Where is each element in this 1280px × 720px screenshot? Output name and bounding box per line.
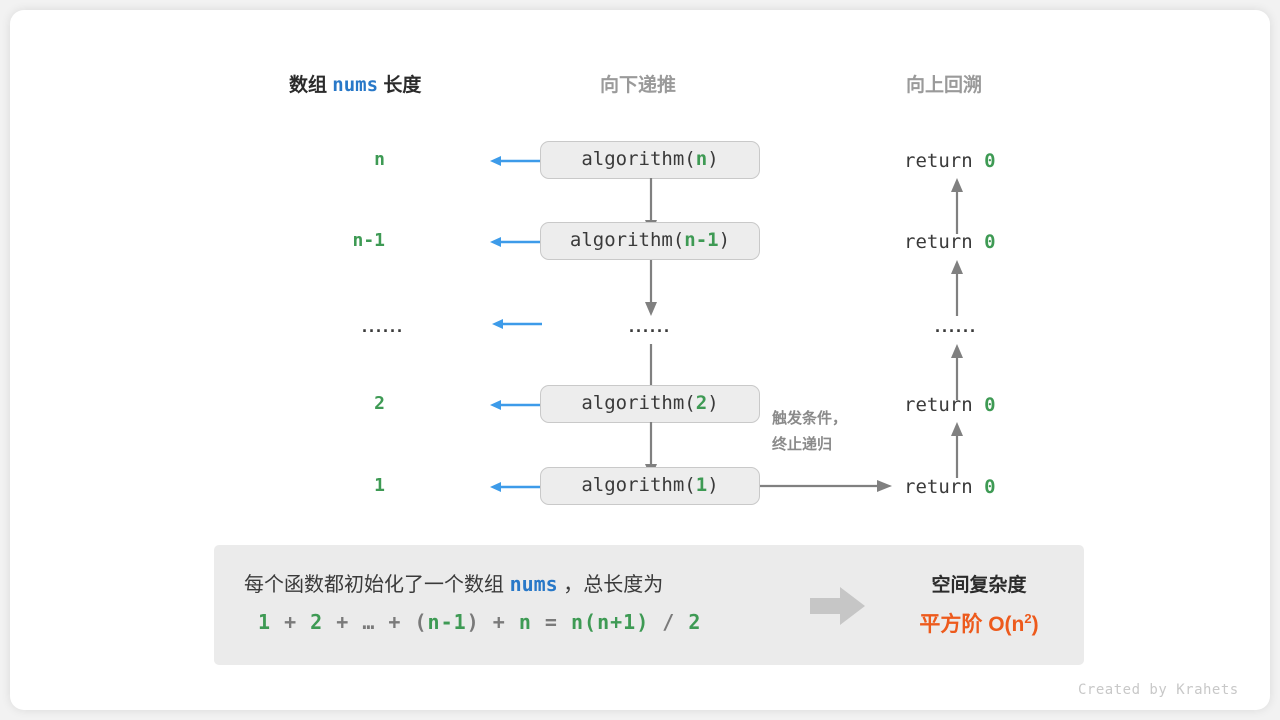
length-label-row-5: 1: [265, 475, 385, 496]
summary-suffix: ，总长度为: [558, 574, 664, 596]
right-arrow-icon: [810, 587, 865, 625]
blue-arrow-row-ellipsis: [492, 313, 542, 335]
up-arrow-row4-to-dots: [946, 344, 968, 400]
summary-prefix: 每个函数都初始化了一个数组: [244, 574, 510, 596]
formula-token: +: [271, 610, 310, 634]
up-arrow-2-to-1: [946, 178, 968, 234]
formula-token: /: [649, 610, 688, 634]
length-label-row-ellipsis: ······: [362, 321, 404, 342]
complexity-suffix: ): [1032, 613, 1039, 636]
return-value: 0: [984, 476, 995, 498]
column-header-recurse-down: 向下递推: [600, 70, 676, 97]
termination-note: 触发条件， 终止递归: [772, 406, 892, 458]
formula-token: ) +: [467, 610, 519, 634]
complexity-prefix: 平方阶 O(n: [919, 613, 1024, 636]
return-label-row-2: return 0: [904, 231, 996, 253]
summary-panel: 每个函数都初始化了一个数组 nums ，总长度为 1 + 2 + … + (n-…: [214, 545, 1084, 665]
fn-suffix: ): [707, 392, 718, 414]
return-value: 0: [984, 231, 995, 253]
formula-token: 2: [688, 610, 701, 634]
return-label-row-4: return 0: [904, 394, 996, 416]
function-box-row-5[interactable]: algorithm(1): [540, 467, 760, 505]
return-text: return: [904, 476, 984, 498]
column-header-backtrack-up: 向上回溯: [906, 70, 982, 97]
blue-arrow-row-4: [490, 394, 546, 416]
formula-token: 2: [310, 610, 323, 634]
blue-arrow-row-1: [490, 150, 546, 172]
summary-nums-keyword: nums: [510, 572, 558, 596]
function-box-row-2[interactable]: algorithm(n-1): [540, 222, 760, 260]
space-complexity-title: 空间复杂度: [874, 570, 1084, 597]
header-nums-keyword: nums: [332, 74, 378, 96]
return-label-row-1: return 0: [904, 150, 996, 172]
return-label-row-ellipsis: ······: [935, 321, 977, 342]
function-box-row-ellipsis: ······: [629, 321, 671, 342]
formula-token: + … + (: [323, 610, 427, 634]
fn-suffix: ): [707, 474, 718, 496]
return-value: 0: [984, 394, 995, 416]
header-left-suffix: 长度: [378, 75, 421, 96]
return-text: return: [904, 394, 984, 416]
formula-token: n-1: [428, 610, 467, 634]
blue-arrow-row-5: [490, 476, 546, 498]
fn-prefix: algorithm(: [570, 229, 684, 251]
down-arrow-2-to-dots: [640, 260, 662, 316]
return-label-row-5: return 0: [904, 476, 996, 498]
fn-arg: 2: [696, 392, 707, 414]
return-value: 0: [984, 150, 995, 172]
length-label-row-2: n-1: [265, 230, 385, 251]
fn-arg: 1: [696, 474, 707, 496]
return-text: return: [904, 231, 984, 253]
length-label-row-4: 2: [265, 393, 385, 414]
fn-prefix: algorithm(: [581, 392, 695, 414]
fn-arg: n-1: [684, 229, 718, 251]
function-box-row-4[interactable]: algorithm(2): [540, 385, 760, 423]
diagram-canvas: 数组 nums 长度 向下递推 向上回溯 n algorithm(n) retu…: [10, 10, 1270, 710]
fn-prefix: algorithm(: [581, 148, 695, 170]
summary-formula: 1 + 2 + … + (n-1) + n = n(n+1) / 2: [258, 610, 701, 634]
formula-token: =: [532, 610, 571, 634]
up-arrow-row5-to-row4: [946, 422, 968, 478]
blue-arrow-row-2: [490, 231, 546, 253]
length-label-row-1: n: [265, 149, 385, 170]
formula-token: n: [519, 610, 532, 634]
formula-token: n(n+1): [571, 610, 649, 634]
return-text: return: [904, 150, 984, 172]
complexity-exponent: 2: [1024, 611, 1031, 626]
fn-suffix: ): [707, 148, 718, 170]
formula-token: 1: [258, 610, 271, 634]
summary-description: 每个函数都初始化了一个数组 nums ，总长度为: [244, 568, 663, 597]
fn-suffix: ): [719, 229, 730, 251]
return-arrow-row-5: [760, 475, 892, 497]
fn-prefix: algorithm(: [581, 474, 695, 496]
header-left-prefix: 数组: [289, 75, 332, 96]
termination-note-line1: 触发条件，: [772, 406, 892, 432]
function-box-row-1[interactable]: algorithm(n): [540, 141, 760, 179]
column-header-array-length: 数组 nums 长度: [289, 70, 421, 97]
credit-text: Created by Krahets: [1078, 682, 1239, 698]
fn-arg: n: [696, 148, 707, 170]
space-complexity-value: 平方阶 O(n2): [874, 608, 1084, 638]
up-arrow-dots-to-2: [946, 260, 968, 316]
termination-note-line2: 终止递归: [772, 432, 892, 458]
